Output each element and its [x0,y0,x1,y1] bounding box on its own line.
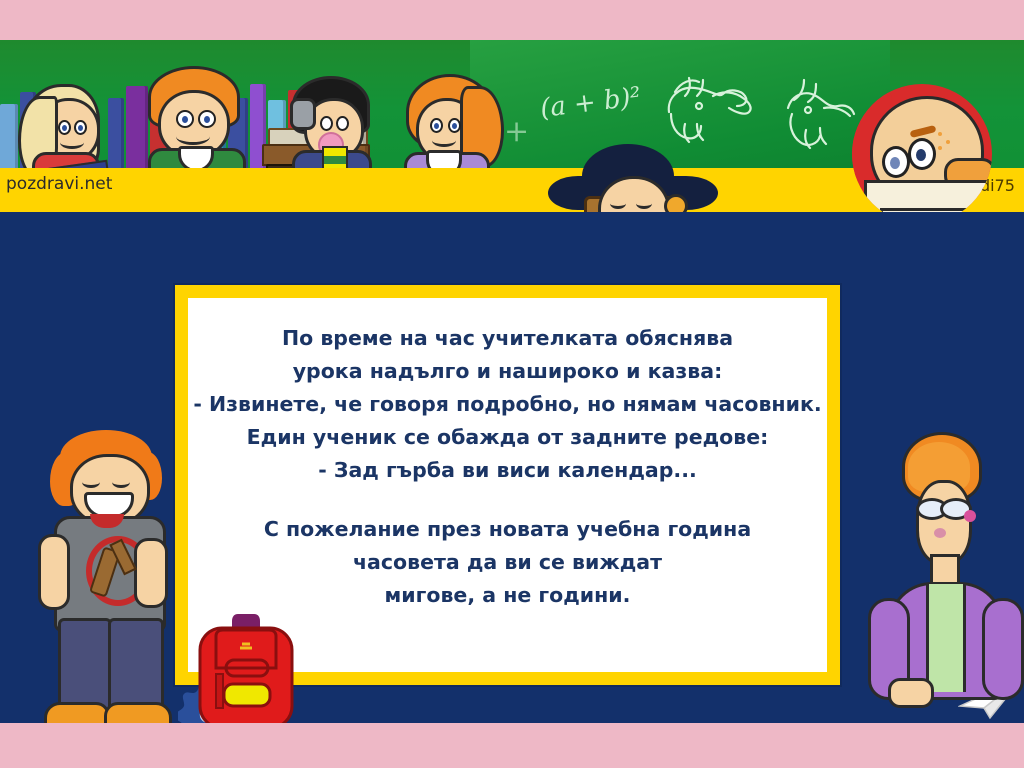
joke-text: По време на час учителката обяснява урок… [188,322,827,612]
joke-spacer [188,487,827,513]
mascot-badge [852,84,992,212]
wish-line-1: С пожелание през новата учебна година [188,513,827,546]
chalk-doodle-animal-1 [655,66,765,152]
joke-line-5: - Зад гърба ви виси календар... [188,454,827,487]
red-backpack [196,612,296,723]
slide-stage: + (a + b)² [0,0,1024,768]
chalk-formula: (a + b)² [539,82,643,124]
schoolgirl-with-backpack [548,142,718,212]
wish-line-3: мигове, а не години. [188,579,827,612]
wish-line-2: часовета да ви се виждат [188,546,827,579]
joke-line-2: урока надълго и нашироко и казва: [188,355,827,388]
teacher-blouse [926,584,966,692]
boy-with-slingshot [38,430,188,723]
joke-line-4: Един ученик се обажда от задните редове: [188,421,827,454]
joke-line-1: По време на час учителката обяснява [188,322,827,355]
header-banner: + (a + b)² [0,40,1024,212]
watermark-pozdravi: pozdravi.net [6,174,112,194]
joke-line-3: - Извинете, че говоря подробно, но нямам… [188,388,827,421]
slide-body: По време на час учителката обяснява урок… [0,212,1024,723]
teacher-figure [860,432,1024,723]
slide-content: + (a + b)² [0,40,1024,723]
